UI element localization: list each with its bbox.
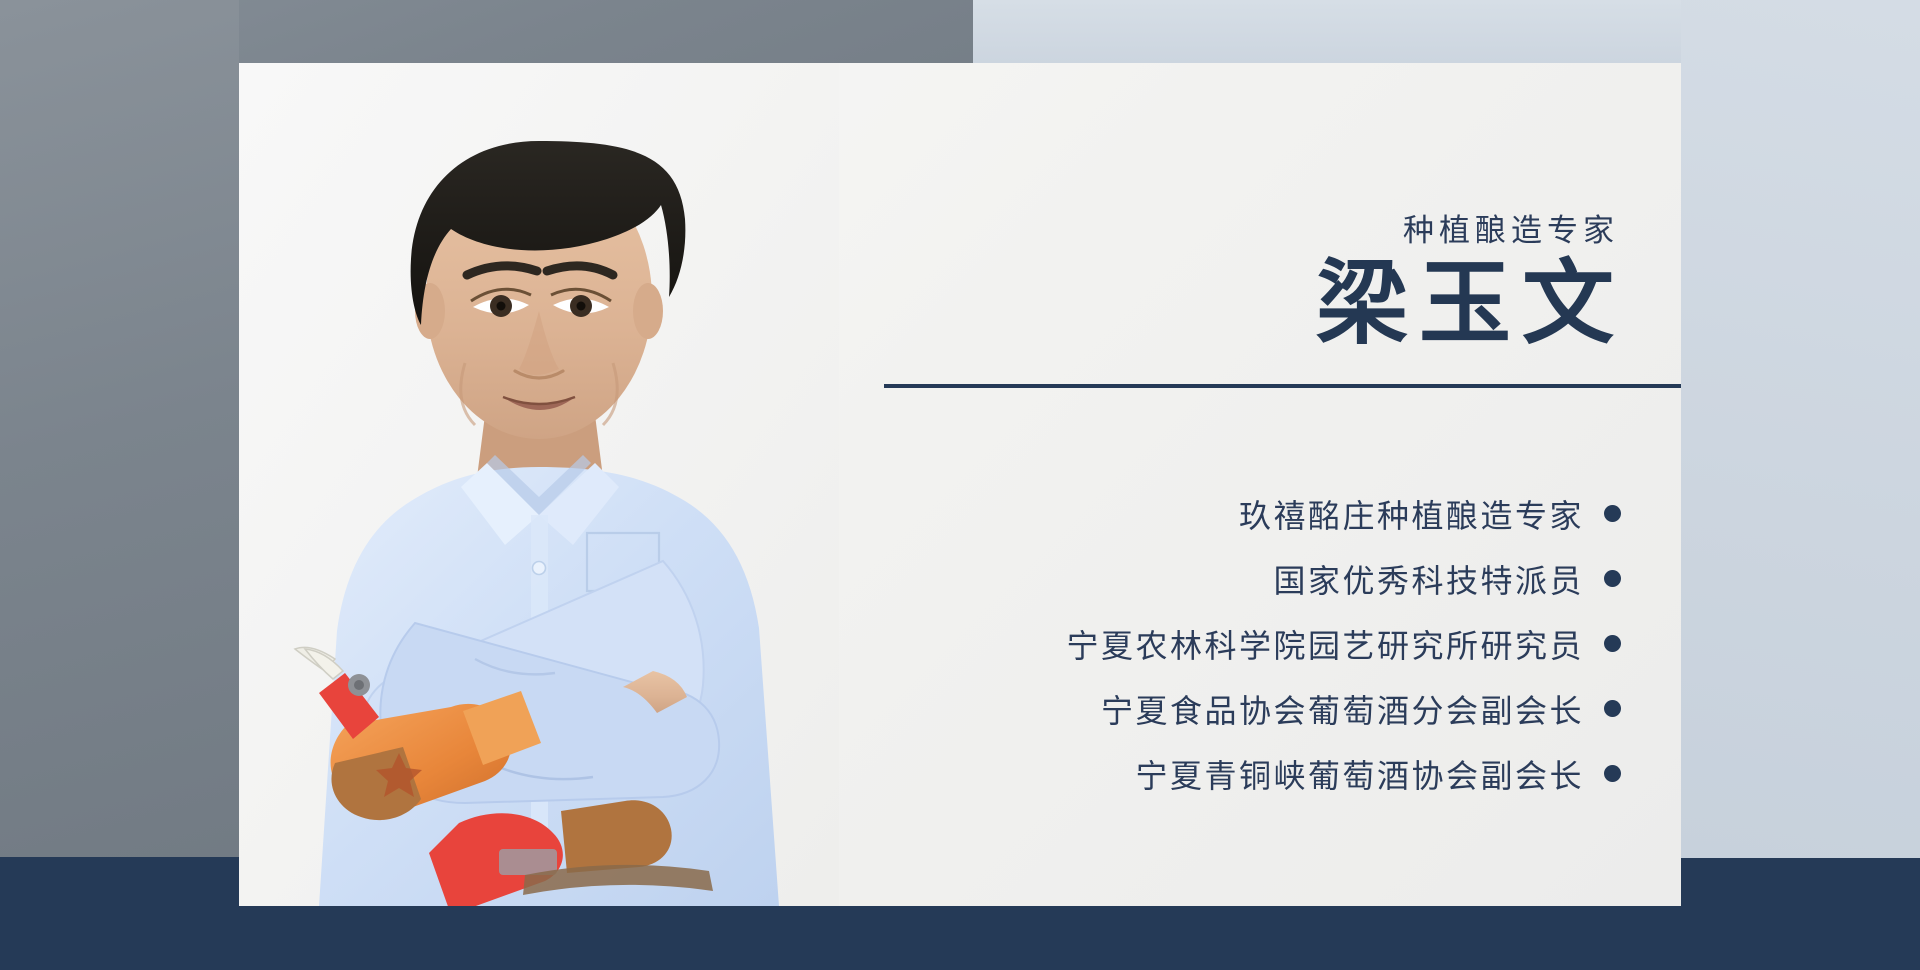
bullet-dot-icon (1604, 505, 1621, 522)
list-item: 玖禧酩庄种植酿造专家 (881, 481, 1621, 546)
credential-label: 宁夏农林科学院园艺研究所研究员 (1066, 621, 1584, 667)
divider (884, 379, 1681, 393)
left-gray-column (0, 0, 239, 857)
profile-info: 种植酿造专家 梁玉文 玖禧酩庄种植酿造专家 国家优秀科技特派员 宁夏农林科学院园… (879, 63, 1681, 906)
bullet-dot-icon (1604, 570, 1621, 587)
divider-line (884, 384, 1681, 388)
list-item: 宁夏青铜峡葡萄酒协会副会长 (881, 741, 1621, 806)
bottom-right-navy-band (1681, 858, 1920, 970)
bullet-dot-icon (1604, 700, 1621, 717)
profile-card: 种植酿造专家 梁玉文 玖禧酩庄种植酿造专家 国家优秀科技特派员 宁夏农林科学院园… (239, 63, 1681, 906)
role-subtitle: 种植酿造专家 (1403, 205, 1619, 250)
list-item: 国家优秀科技特派员 (881, 546, 1621, 611)
right-blue-column (1681, 0, 1920, 858)
list-item: 宁夏农林科学院园艺研究所研究员 (881, 611, 1621, 676)
credentials-list: 玖禧酩庄种植酿造专家 国家优秀科技特派员 宁夏农林科学院园艺研究所研究员 宁夏食… (881, 481, 1621, 806)
list-item: 宁夏食品协会葡萄酒分会副会长 (881, 676, 1621, 741)
portrait-photo (239, 63, 839, 906)
bullet-dot-icon (1604, 765, 1621, 782)
credential-label: 宁夏食品协会葡萄酒分会副会长 (1101, 686, 1584, 732)
profile-banner: 种植酿造专家 梁玉文 玖禧酩庄种植酿造专家 国家优秀科技特派员 宁夏农林科学院园… (0, 0, 1920, 970)
credential-label: 玖禧酩庄种植酿造专家 (1239, 491, 1584, 537)
person-name: 梁玉文 (1316, 255, 1625, 354)
bullet-dot-icon (1604, 635, 1621, 652)
credential-label: 宁夏青铜峡葡萄酒协会副会长 (1135, 751, 1584, 797)
credential-label: 国家优秀科技特派员 (1273, 556, 1584, 602)
